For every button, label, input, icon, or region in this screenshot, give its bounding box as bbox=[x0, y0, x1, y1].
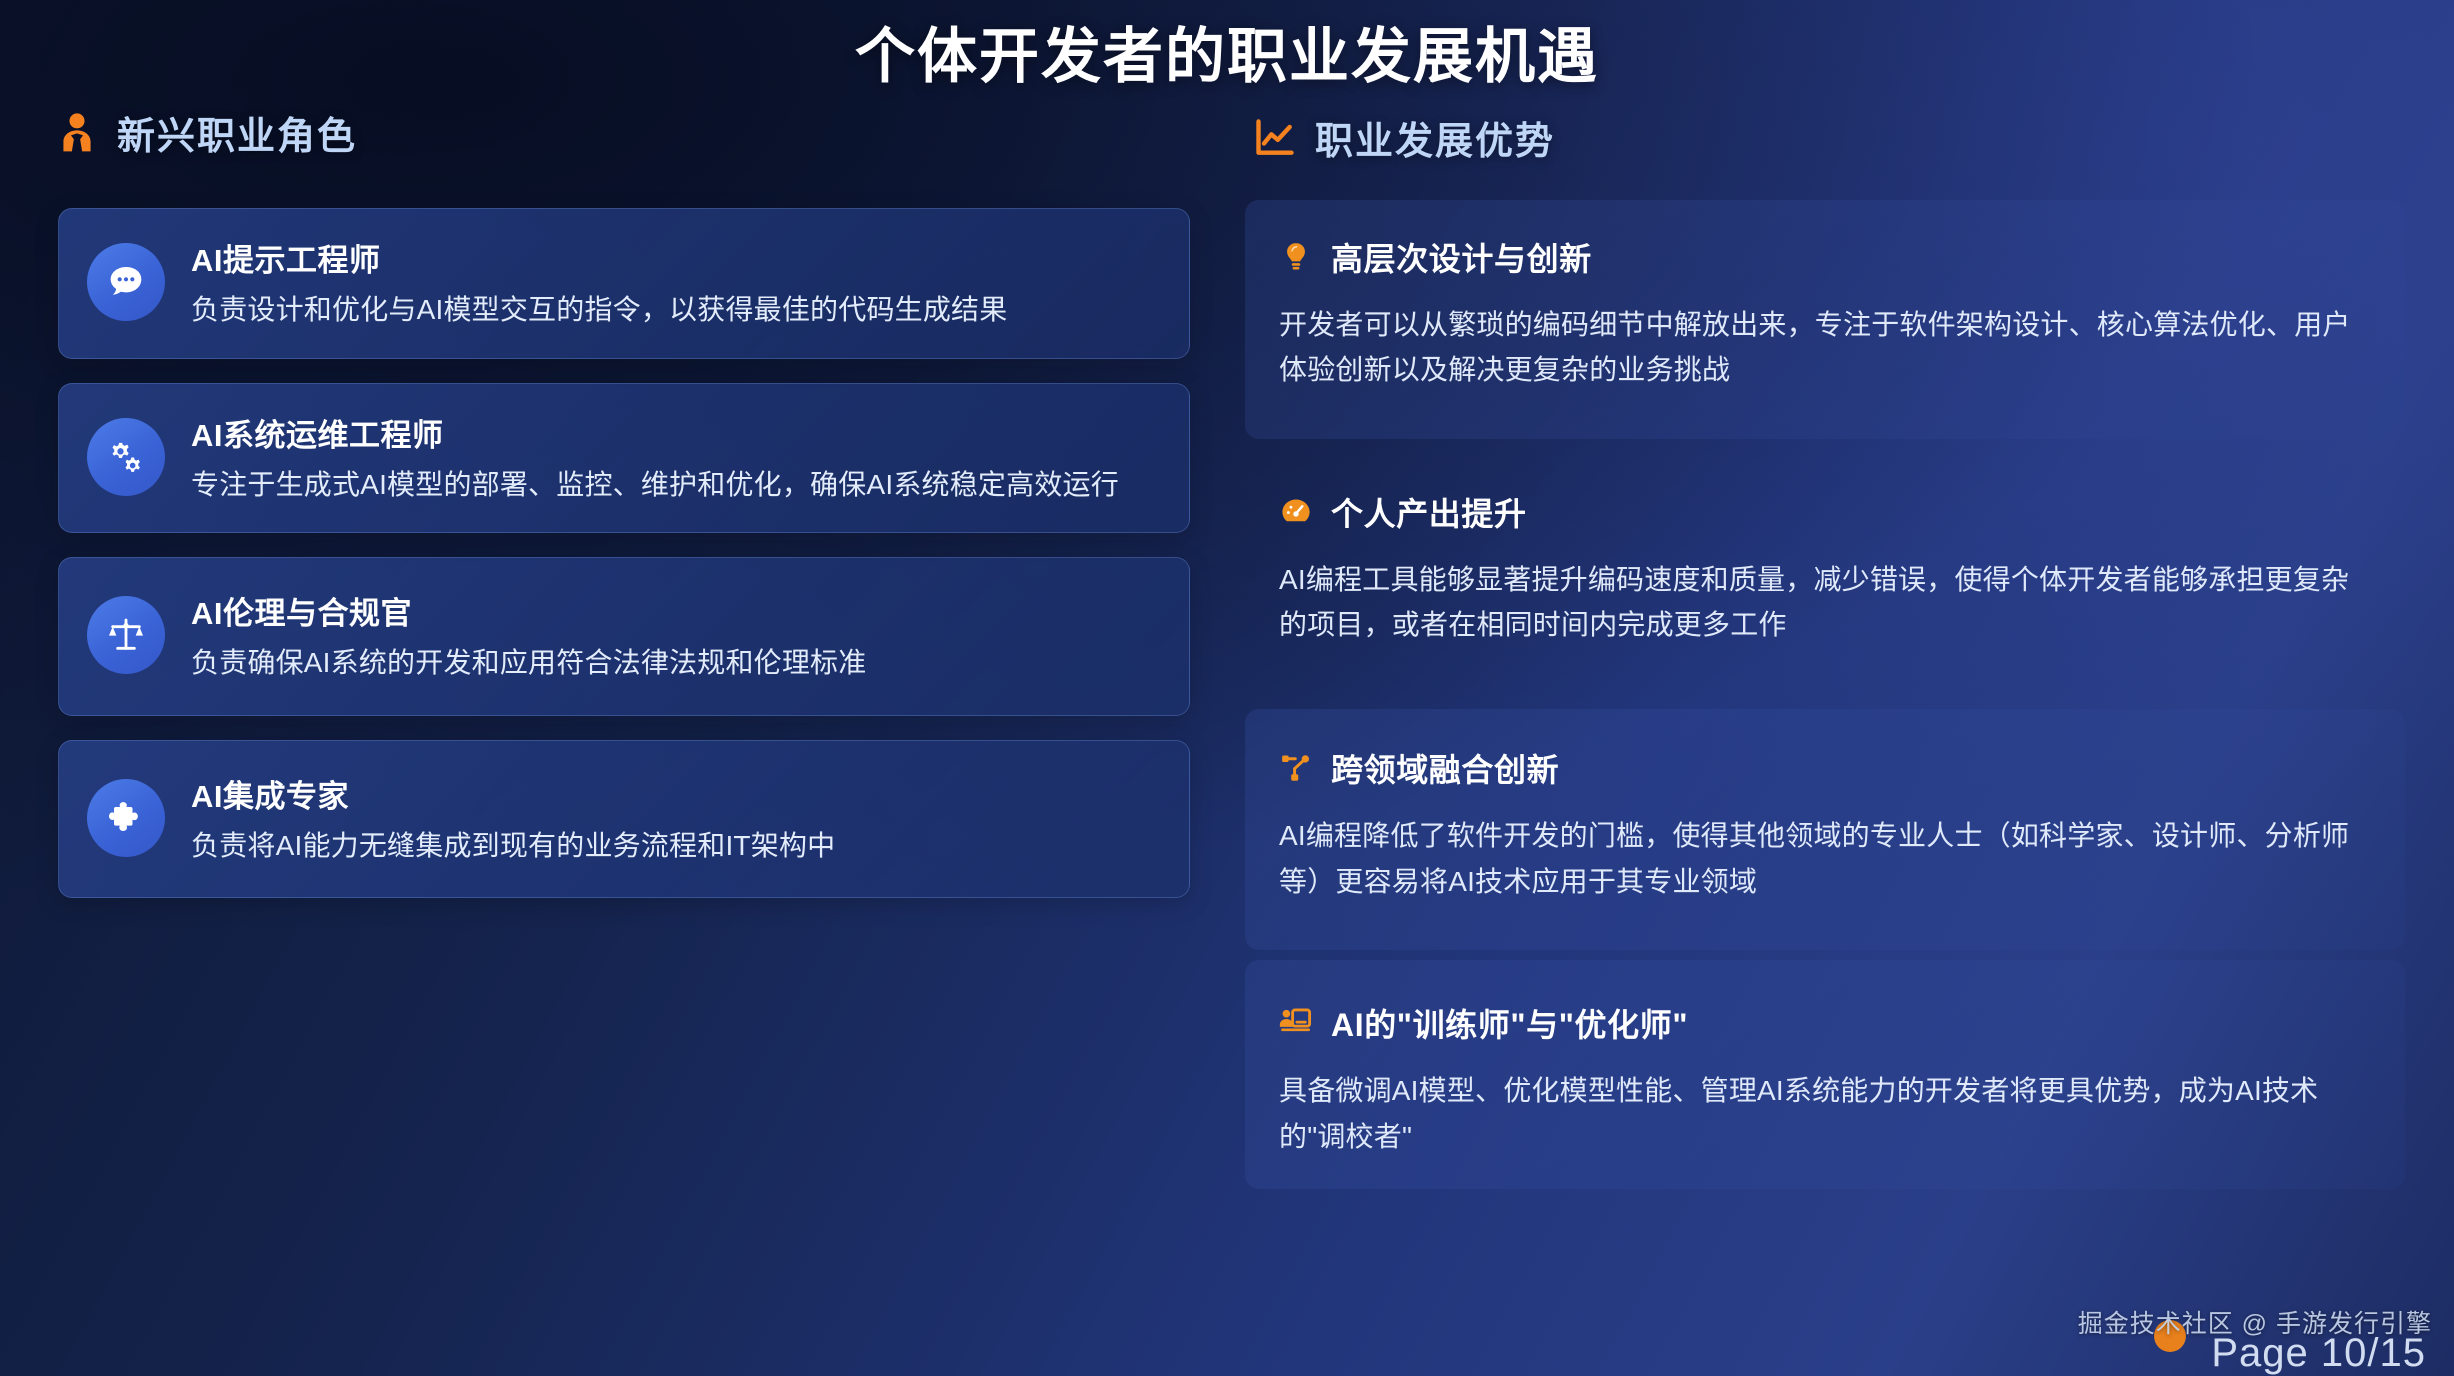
career-advantages-list: 高层次设计与创新 开发者可以从繁琐的编码细节中解放出来，专注于软件架构设计、核心… bbox=[1245, 200, 2405, 1199]
advantage-header: 高层次设计与创新 bbox=[1279, 234, 2367, 280]
page-number: Page 10/15 bbox=[2211, 1331, 2426, 1376]
advantage-block[interactable]: 跨领域融合创新 AI编程降低了软件开发的门槛，使得其他领域的专业人士（如科学家、… bbox=[1245, 709, 2405, 950]
role-card-body: AI伦理与合规官 负责确保AI系统的开发和应用符合法律法规和伦理标准 bbox=[191, 588, 1155, 685]
role-card-desc: 负责确保AI系统的开发和应用符合法律法规和伦理标准 bbox=[191, 642, 1155, 685]
role-card-title: AI提示工程师 bbox=[191, 235, 1155, 280]
advantage-header: AI的"训练师"与"优化师" bbox=[1279, 1000, 2367, 1046]
role-card[interactable]: AI伦理与合规官 负责确保AI系统的开发和应用符合法律法规和伦理标准 bbox=[58, 557, 1190, 716]
role-card-title: AI系统运维工程师 bbox=[191, 410, 1155, 455]
lightbulb-icon bbox=[1279, 240, 1313, 274]
advantage-block[interactable]: 高层次设计与创新 开发者可以从繁琐的编码细节中解放出来，专注于软件架构设计、核心… bbox=[1245, 200, 2405, 439]
role-card-desc: 专注于生成式AI模型的部署、监控、维护和优化，确保AI系统稳定高效运行 bbox=[191, 464, 1155, 507]
balance-scale-icon bbox=[106, 615, 146, 655]
comment-dots-icon bbox=[106, 262, 146, 302]
role-card[interactable]: AI系统运维工程师 专注于生成式AI模型的部署、监控、维护和优化，确保AI系统稳… bbox=[58, 383, 1190, 534]
advantage-desc: 开发者可以从繁琐的编码细节中解放出来，专注于软件架构设计、核心算法优化、用户体验… bbox=[1279, 302, 2367, 393]
emerging-roles-list: AI提示工程师 负责设计和优化与AI模型交互的指令，以获得最佳的代码生成结果 A… bbox=[58, 208, 1190, 922]
advantage-header: 跨领域融合创新 bbox=[1279, 745, 2367, 791]
puzzle-piece-icon bbox=[106, 798, 146, 838]
tachometer-icon bbox=[1279, 495, 1313, 529]
advantage-title: 高层次设计与创新 bbox=[1331, 234, 1592, 280]
left-column-header-label: 新兴职业角色 bbox=[117, 105, 357, 160]
role-card-body: AI集成专家 负责将AI能力无缝集成到现有的业务流程和IT架构中 bbox=[191, 771, 1155, 868]
advantage-desc: 具备微调AI模型、优化模型性能、管理AI系统能力的开发者将更具优势，成为AI技术… bbox=[1279, 1068, 2367, 1159]
role-card-body: AI系统运维工程师 专注于生成式AI模型的部署、监控、维护和优化，确保AI系统稳… bbox=[191, 410, 1155, 507]
advantage-title: AI的"训练师"与"优化师" bbox=[1331, 1000, 1688, 1046]
page-title: 个体开发者的职业发展机遇 bbox=[0, 8, 2454, 95]
project-diagram-icon bbox=[1279, 751, 1313, 785]
right-column-header: 职业发展优势 bbox=[1253, 110, 1555, 165]
slide-canvas: 个体开发者的职业发展机遇 新兴职业角色 职业发展优势 bbox=[0, 0, 2454, 1376]
role-card-desc: 负责设计和优化与AI模型交互的指令，以获得最佳的代码生成结果 bbox=[191, 289, 1155, 332]
role-card-title: AI集成专家 bbox=[191, 771, 1155, 816]
role-icon-badge bbox=[87, 243, 165, 321]
advantage-title: 跨领域融合创新 bbox=[1331, 745, 1559, 791]
chart-line-icon bbox=[1253, 116, 1297, 160]
advantage-title: 个人产出提升 bbox=[1331, 489, 1527, 535]
role-card[interactable]: AI提示工程师 负责设计和优化与AI模型交互的指令，以获得最佳的代码生成结果 bbox=[58, 208, 1190, 359]
advantage-block[interactable]: AI的"训练师"与"优化师" 具备微调AI模型、优化模型性能、管理AI系统能力的… bbox=[1245, 960, 2405, 1189]
role-card-title: AI伦理与合规官 bbox=[191, 588, 1155, 633]
right-column-header-label: 职业发展优势 bbox=[1315, 110, 1555, 165]
advantage-header: 个人产出提升 bbox=[1279, 489, 2367, 535]
role-card-body: AI提示工程师 负责设计和优化与AI模型交互的指令，以获得最佳的代码生成结果 bbox=[191, 235, 1155, 332]
left-column-header: 新兴职业角色 bbox=[55, 105, 357, 160]
role-card-desc: 负责将AI能力无缝集成到现有的业务流程和IT架构中 bbox=[191, 825, 1155, 868]
role-icon-badge bbox=[87, 779, 165, 857]
user-tie-icon bbox=[55, 111, 99, 155]
role-icon-badge bbox=[87, 418, 165, 496]
cogs-icon bbox=[106, 437, 146, 477]
advantage-desc: AI编程工具能够显著提升编码速度和质量，减少错误，使得个体开发者能够承担更复杂的… bbox=[1279, 557, 2367, 648]
role-card[interactable]: AI集成专家 负责将AI能力无缝集成到现有的业务流程和IT架构中 bbox=[58, 740, 1190, 899]
advantage-desc: AI编程降低了软件开发的门槛，使得其他领域的专业人士（如科学家、设计师、分析师等… bbox=[1279, 813, 2367, 904]
chalkboard-teacher-icon bbox=[1279, 1006, 1313, 1040]
role-icon-badge bbox=[87, 596, 165, 674]
advantage-block[interactable]: 个人产出提升 AI编程工具能够显著提升编码速度和质量，减少错误，使得个体开发者能… bbox=[1245, 449, 2405, 700]
